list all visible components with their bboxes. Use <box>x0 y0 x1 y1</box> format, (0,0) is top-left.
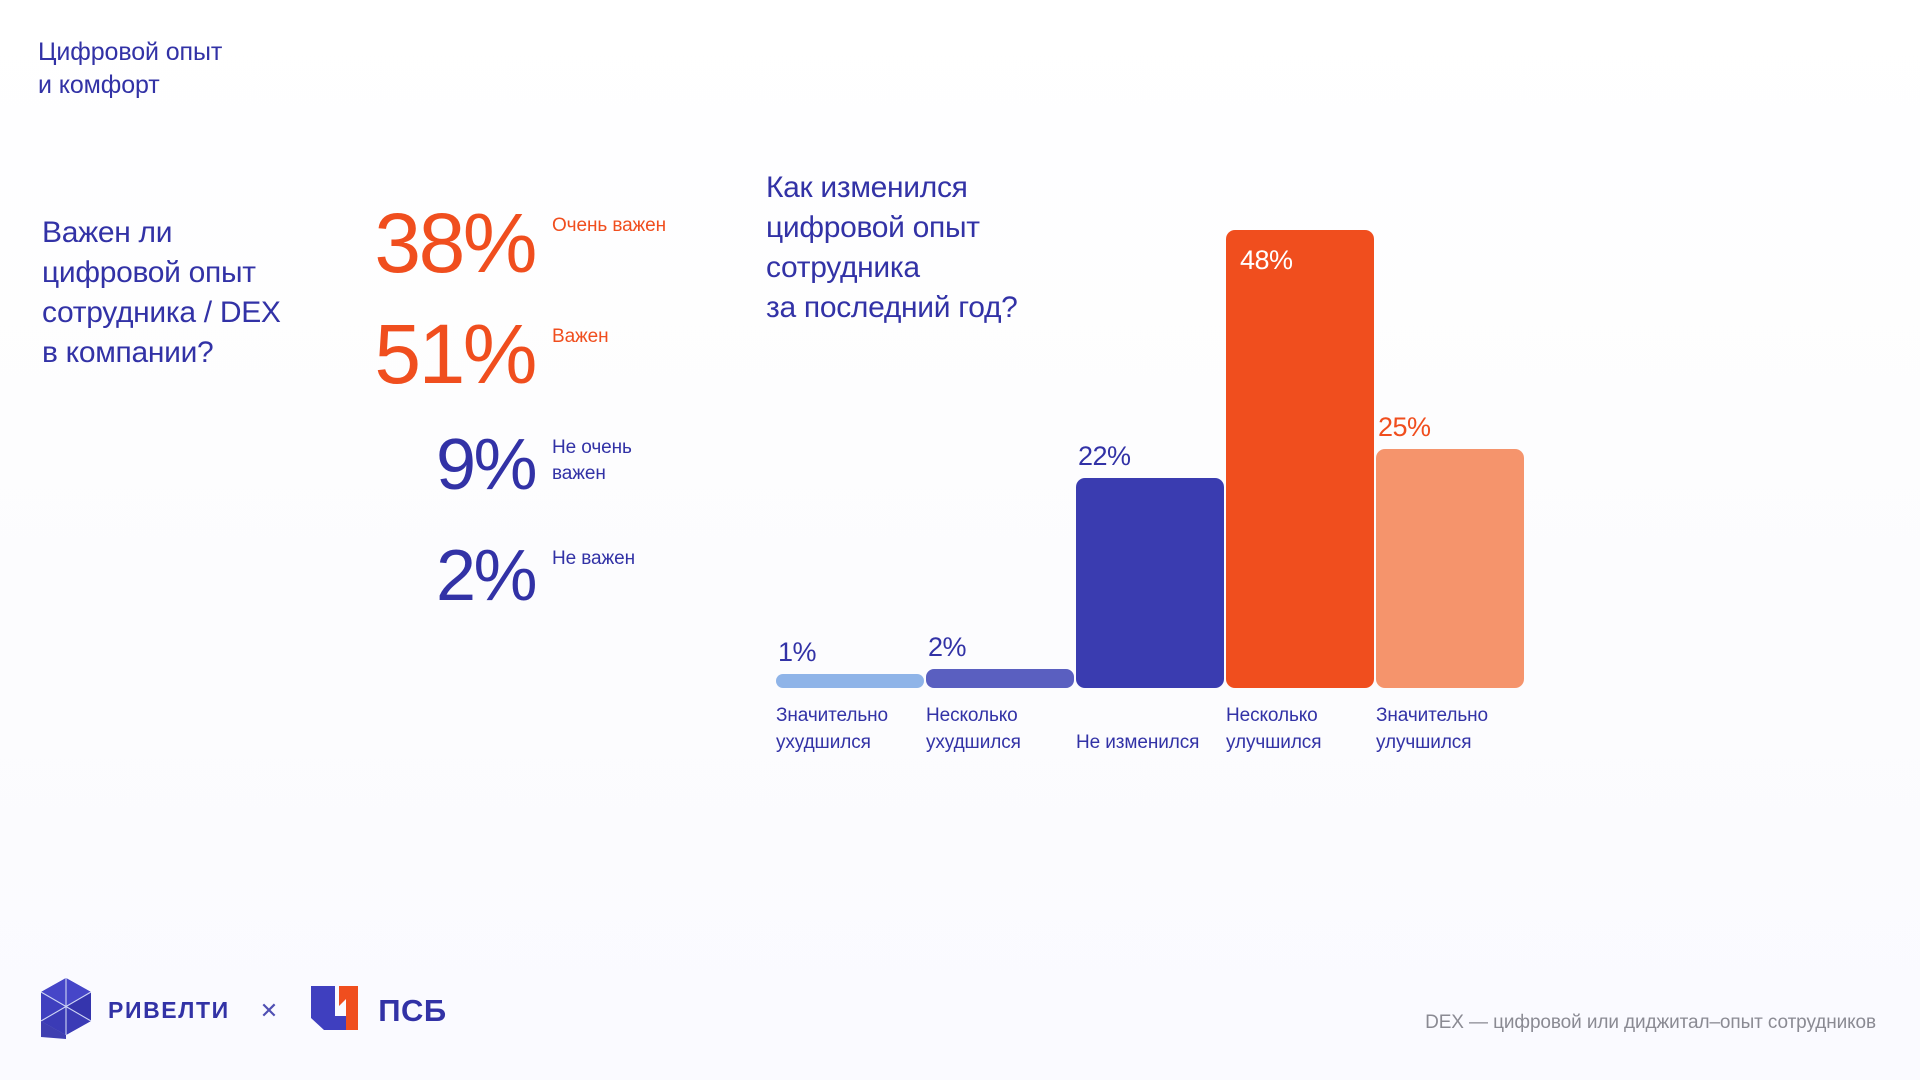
header-line-1: Цифровой опыт <box>38 36 558 69</box>
stat-row: 38%Очень важен <box>367 195 707 306</box>
bar-value-label: 2% <box>928 631 966 663</box>
stat-row: 51%Важен <box>367 306 707 417</box>
footer-logo-group: РИВЕЛТИ ✕ ПСБ <box>40 977 447 1044</box>
bar-value-label: 25% <box>1378 411 1431 443</box>
slide-root: Цифровой опыт и комфорт Важен ли цифрово… <box>0 0 1920 1080</box>
psb-logo: ПСБ <box>308 982 446 1039</box>
psb-mark-icon <box>308 982 364 1039</box>
bar-value-label: 1% <box>778 636 816 668</box>
bar[interactable] <box>1076 478 1224 688</box>
bar-category-label: Значительно ухудшился <box>776 702 944 756</box>
bar-caption-wrap: Несколько ухудшился <box>926 702 1094 756</box>
stat-row: 9%Не очень важен <box>367 417 707 528</box>
left-stat-list: 38%Очень важен51%Важен9%Не очень важен2%… <box>367 195 707 639</box>
bar-group: 22% <box>1076 478 1224 688</box>
bar-caption-wrap: Несколько улучшился <box>1226 702 1394 756</box>
stat-label: Важен <box>552 324 609 350</box>
stat-value: 51% <box>374 306 535 402</box>
bar-value-label: 48% <box>1240 244 1293 276</box>
bar-caption-wrap: Значительно ухудшился <box>776 702 944 756</box>
rivelti-logo: РИВЕЛТИ <box>40 977 230 1044</box>
left-question-title: Важен ли цифровой опыт сотрудника / DEX … <box>42 213 372 373</box>
rivelti-hexagon-icon <box>40 977 92 1044</box>
bar[interactable] <box>926 669 1074 688</box>
bar-category-label: Несколько улучшился <box>1226 702 1394 756</box>
bar[interactable] <box>1226 230 1374 688</box>
bar-caption-wrap: Значительно улучшился <box>1376 702 1544 756</box>
header-line-2: и комфорт <box>38 69 558 102</box>
bar-category-label: Значительно улучшился <box>1376 702 1544 756</box>
stat-label: Очень важен <box>552 213 666 239</box>
bar-category-label: Несколько ухудшился <box>926 702 1094 756</box>
footer-note: DEX — цифровой или диджитал–опыт сотрудн… <box>1425 1012 1876 1034</box>
stat-label: Не важен <box>552 546 635 572</box>
bar-group: 25% <box>1376 449 1524 688</box>
bar-value-label: 22% <box>1078 440 1131 472</box>
change-bar-chart: 1%Значительно ухудшился2%Несколько ухудш… <box>766 168 1886 828</box>
stat-value: 2% <box>436 528 535 624</box>
logo-separator-icon: ✕ <box>260 1000 278 1022</box>
psb-wordmark: ПСБ <box>378 993 446 1029</box>
slide-header: Цифровой опыт и комфорт <box>38 36 558 102</box>
bar-group: 2% <box>926 669 1074 688</box>
bar-group: 1% <box>776 674 924 688</box>
rivelti-wordmark: РИВЕЛТИ <box>108 997 230 1024</box>
right-question-block: Как изменился цифровой опыт сотрудника з… <box>766 168 1886 828</box>
bar[interactable] <box>1376 449 1524 688</box>
stat-value: 9% <box>436 417 535 513</box>
stat-value: 38% <box>374 195 535 291</box>
stat-row: 2%Не важен <box>367 528 707 639</box>
bar[interactable] <box>776 674 924 688</box>
stat-label: Не очень важен <box>552 435 632 487</box>
bar-group: 48% <box>1226 230 1374 688</box>
